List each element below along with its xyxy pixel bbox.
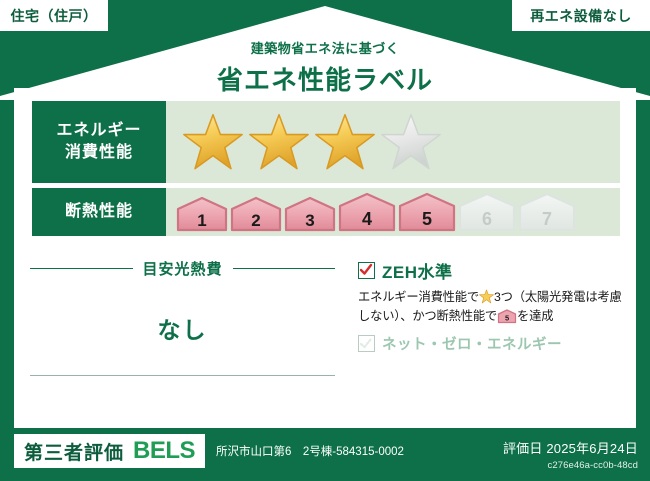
heading-rule-right [233, 268, 336, 269]
insulation-house-1: 1 [176, 196, 228, 232]
insulation-house-2: 2 [230, 196, 282, 232]
insulation-house-4: 4 [338, 192, 396, 232]
tag-renewable-equipment: 再エネ設備なし [512, 0, 650, 31]
svg-text:5: 5 [505, 314, 509, 323]
bels-jp-label: 第三者評価 [24, 438, 124, 465]
svg-text:6: 6 [482, 209, 492, 229]
tag-building-type: 住宅（住戸） [0, 0, 108, 31]
title-main: 省エネ性能ラベル [0, 60, 650, 97]
star-icon-filled-2 [248, 111, 310, 173]
zeh-title: ZEH水準 [382, 258, 453, 283]
inline-house-level-icon: 5 [497, 309, 517, 324]
zeh-desc-stars: 3つ [494, 290, 513, 304]
bels-logo-text: BELS [133, 437, 195, 465]
insulation-level-scale: 1 2 3 4 [176, 192, 576, 232]
checkbox-unchecked-icon[interactable] [358, 335, 375, 352]
insulation-house-3: 3 [284, 196, 336, 232]
title-subtitle: 建築物省エネ法に基づく [0, 38, 650, 57]
property-address: 所沢市山口第6 2号棟-584315-0002 [216, 443, 404, 459]
utility-cost-heading-text: 目安光熱費 [133, 258, 233, 279]
row-energy-label-line1: エネルギー [56, 120, 141, 142]
bels-badge: 第三者評価 BELS [14, 434, 205, 468]
row-insulation-performance: 断熱性能 [32, 188, 620, 236]
evaluation-date: 評価日 2025年6月24日 [503, 438, 638, 457]
checkbox-checked-icon[interactable] [358, 262, 375, 279]
evaluation-info: 評価日 2025年6月24日 c276e46a-cc0b-48cd [503, 438, 638, 471]
star-icon-filled-1 [182, 111, 244, 173]
row-energy-label-line2: 消費性能 [65, 142, 133, 164]
row-insulation-label: 断熱性能 [32, 188, 166, 236]
svg-text:3: 3 [305, 211, 314, 230]
insulation-house-6: 6 [458, 192, 516, 232]
footer: 第三者評価 BELS 所沢市山口第6 2号棟-584315-0002 評価日 2… [0, 428, 650, 481]
page-title: 建築物省エネ法に基づく 省エネ性能ラベル [0, 38, 650, 97]
zeh-desc-part1: エネルギー消費性能で [358, 290, 479, 304]
net-zero-energy-label: ネット・ゼロ・エネルギー [382, 333, 562, 354]
svg-text:7: 7 [542, 209, 552, 229]
evaluation-date-value: 2025年6月24日 [546, 441, 638, 456]
heading-rule-left [30, 268, 133, 269]
energy-performance-label: 住宅（住戸） 再エネ設備なし 建築物省エネ法に基づく 省エネ性能ラベル エネルギ… [0, 0, 650, 481]
row-energy-performance: エネルギー 消費性能 [32, 101, 620, 183]
net-zero-energy-line: ネット・ゼロ・エネルギー [358, 333, 626, 354]
zeh-description: エネルギー消費性能で3つ（太陽光発電は考慮しない）、かつ断熱性能で5を達成 [358, 288, 626, 326]
inline-star-icon [479, 289, 494, 304]
svg-text:5: 5 [422, 209, 432, 229]
svg-text:1: 1 [197, 211, 206, 230]
svg-text:2: 2 [251, 211, 260, 230]
insulation-house-5: 5 [398, 192, 456, 232]
ratings-table: エネルギー 消費性能 [32, 101, 620, 241]
utility-cost-bottom-rule [30, 375, 335, 376]
evaluation-id: c276e46a-cc0b-48cd [503, 460, 638, 471]
evaluation-date-label: 評価日 [503, 441, 543, 456]
row-energy-value [166, 101, 620, 183]
utility-cost-heading: 目安光熱費 [30, 258, 335, 279]
row-insulation-value: 1 2 3 4 [166, 188, 620, 236]
zeh-title-line: ZEH水準 [358, 258, 626, 283]
star-rating [182, 111, 442, 173]
svg-text:4: 4 [362, 209, 372, 229]
utility-cost-block: 目安光熱費 なし [30, 258, 335, 376]
star-icon-filled-3 [314, 111, 376, 173]
insulation-house-7: 7 [518, 192, 576, 232]
zeh-block: ZEH水準 エネルギー消費性能で3つ（太陽光発電は考慮しない）、かつ断熱性能で5… [358, 258, 626, 354]
star-icon-empty-4 [380, 111, 442, 173]
row-energy-label: エネルギー 消費性能 [32, 101, 166, 183]
zeh-desc-part3: を達成 [517, 309, 553, 323]
utility-cost-value: なし [30, 311, 335, 345]
